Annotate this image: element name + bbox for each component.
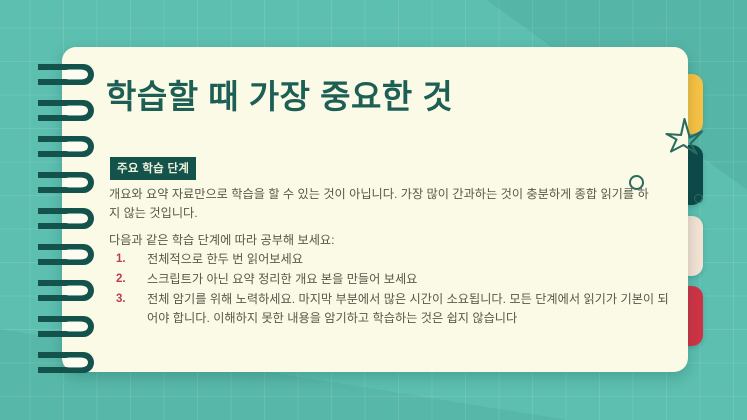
list-item: 1.전체적으로 한두 번 읽어보세요: [109, 250, 669, 269]
list-item: 2.스크립트가 아닌 요약 정리한 개요 본을 만들어 보세요: [109, 270, 669, 289]
list-item-text: 스크립트가 아닌 요약 정리한 개요 본을 만들어 보세요: [147, 270, 669, 289]
list-item-text: 전체적으로 한두 번 읽어보세요: [147, 250, 669, 269]
steps-list: 1.전체적으로 한두 번 읽어보세요2.스크립트가 아닌 요약 정리한 개요 본…: [109, 250, 669, 329]
slide-root: 학습할 때 가장 중요한 것 주요 학습 단계 개요와 요약 자료만으로 학습을…: [0, 0, 747, 420]
intro-paragraph: 개요와 요약 자료만으로 학습을 할 수 있는 것이 아닙니다. 가장 많이 간…: [109, 185, 654, 223]
page-title: 학습할 때 가장 중요한 것: [106, 70, 453, 118]
list-item-number: 2.: [109, 270, 147, 289]
list-item-text: 전체 암기를 위해 노력하세요. 마지막 부분에서 많은 시간이 소요됩니다. …: [147, 290, 669, 328]
list-item: 3.전체 암기를 위해 노력하세요. 마지막 부분에서 많은 시간이 소요됩니다…: [109, 290, 669, 328]
section-badge: 주요 학습 단계: [110, 157, 196, 180]
note-card: 학습할 때 가장 중요한 것 주요 학습 단계 개요와 요약 자료만으로 학습을…: [62, 47, 688, 372]
circle-doodle-small: [694, 194, 703, 203]
steps-lead-in: 다음과 같은 학습 단계에 따라 공부해 보세요:: [109, 231, 335, 250]
list-item-number: 1.: [109, 250, 147, 269]
list-item-number: 3.: [109, 290, 147, 309]
star-icon: [664, 115, 704, 162]
